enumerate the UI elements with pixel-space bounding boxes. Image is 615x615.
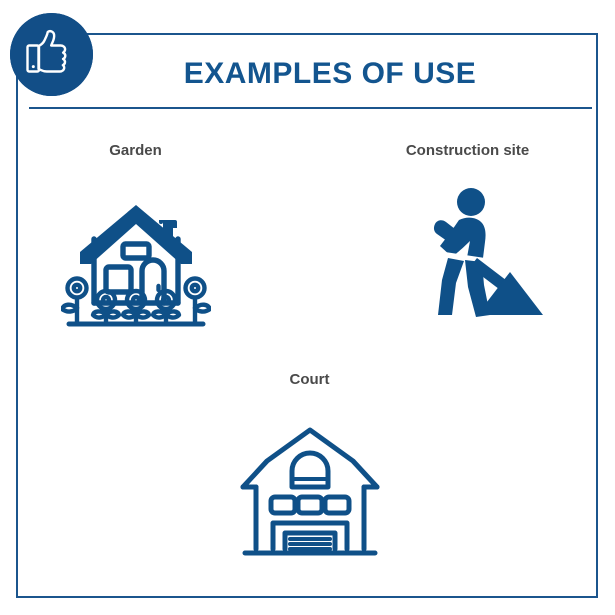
example-item-court: Court — [222, 371, 397, 563]
worker-head — [457, 188, 485, 216]
example-icon-wrap-garden — [48, 182, 223, 332]
thumbs-up-badge — [10, 13, 93, 96]
barn-window-right — [325, 497, 349, 513]
example-item-construction-site: Construction site — [380, 142, 555, 330]
construction-worker-digging-icon — [393, 180, 543, 330]
title-divider — [29, 107, 592, 109]
example-icon-wrap-court — [222, 413, 397, 563]
example-label-court: Court — [222, 371, 397, 389]
barn-arched-window — [292, 453, 328, 487]
barn-window-center — [298, 497, 322, 513]
thumbs-up-icon — [10, 13, 93, 96]
example-label-garden: Garden — [48, 142, 223, 160]
worker-leg-back — [438, 258, 464, 315]
page-title: EXAMPLES OF USE — [120, 57, 540, 91]
examples-of-use-card: EXAMPLES OF USE Garden — [0, 0, 615, 615]
example-item-garden: Garden — [48, 142, 223, 332]
barn-garage-building-icon — [235, 413, 385, 563]
house-with-flowers-icon — [61, 182, 211, 332]
barn-window-left — [271, 497, 295, 513]
house-roof — [80, 205, 192, 264]
example-icon-wrap-construction-site — [380, 180, 555, 330]
example-label-construction-site: Construction site — [380, 142, 555, 160]
